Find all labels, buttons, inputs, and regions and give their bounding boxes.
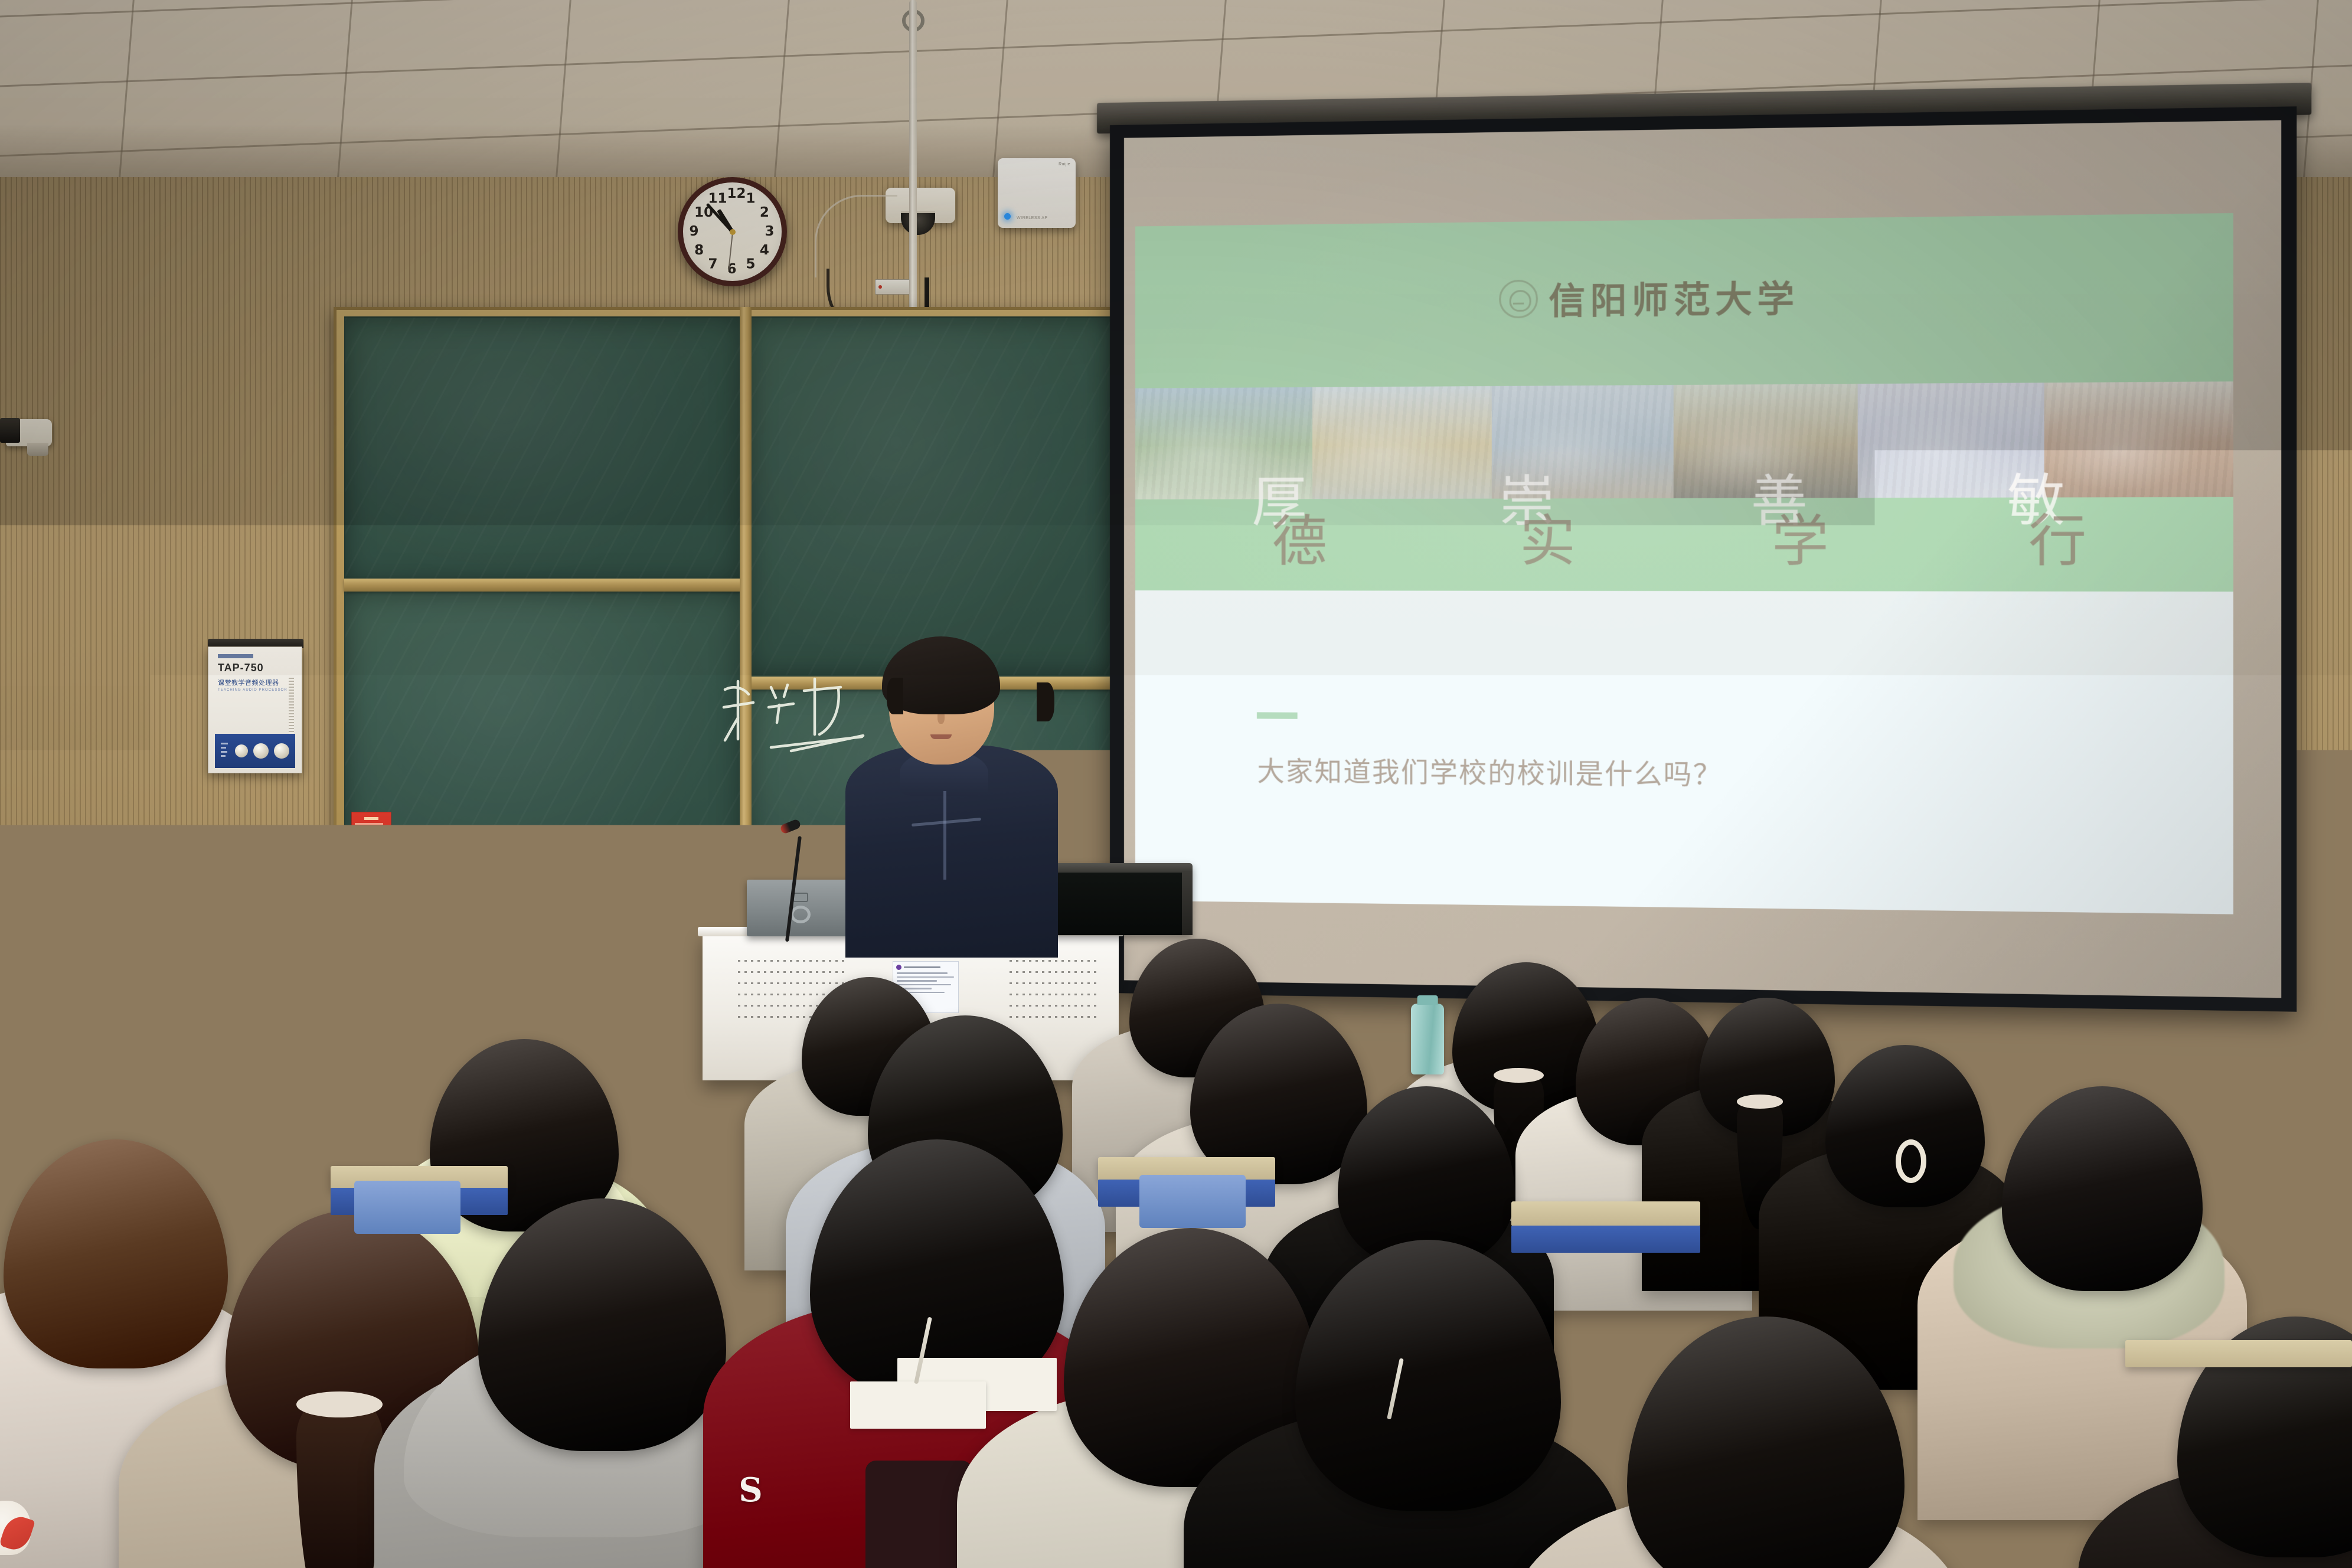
clock-center-pin	[730, 229, 736, 235]
bottle-cap	[1417, 995, 1438, 1005]
gain-knob[interactable]	[274, 743, 289, 759]
student-head	[1627, 1317, 1905, 1568]
chalkboard-panel-top-left	[344, 316, 741, 585]
hoodie-letter-left: S	[739, 1471, 766, 1510]
student-head	[1295, 1240, 1561, 1511]
clock-numeral: 5	[746, 256, 756, 272]
clock-numeral: 9	[690, 224, 699, 239]
chalkboard-panel-top-right	[747, 316, 1120, 677]
hair-tie	[1737, 1095, 1783, 1108]
slide-question-text: 大家知道我们学校的校训是什么吗？	[1257, 750, 1722, 793]
water-bottle	[1411, 1004, 1444, 1074]
wall-clock: 121234567891011	[678, 177, 787, 286]
projection-screen: 信阳师范大学 厚德崇实善学敏行 大家知道我们学校的校训是什么吗？	[1110, 106, 2297, 1012]
clock-numeral: 3	[765, 224, 775, 239]
student-head	[4, 1139, 228, 1368]
motto-char-bottom: 实	[1520, 514, 1576, 570]
student-head	[2002, 1086, 2203, 1291]
clock-numeral: 4	[760, 243, 769, 258]
motto-char-bottom: 德	[1272, 514, 1327, 569]
status-led-icon	[1004, 213, 1011, 220]
control-labels	[221, 743, 230, 759]
audience-student	[1594, 1317, 2066, 1568]
brand-bar	[218, 654, 253, 658]
slide-university-logo: 信阳师范大学	[1499, 270, 1799, 325]
university-name: 信阳师范大学	[1549, 270, 1799, 325]
audio-processor-control-panel[interactable]	[215, 734, 295, 768]
volume-knob-small[interactable]	[235, 744, 248, 757]
water-bottle	[1618, 1234, 1661, 1343]
hair-tie	[177, 1062, 227, 1077]
motto-character-pair: 善学	[1751, 473, 1850, 601]
hair-tie	[1494, 1068, 1544, 1083]
student-head	[1825, 1045, 1985, 1207]
clock-numeral: 7	[708, 256, 718, 272]
university-emblem-icon	[1499, 280, 1538, 319]
motto-character-pair: 敏行	[2007, 473, 2108, 602]
bottle-cap	[1626, 1226, 1653, 1235]
hair-clip	[1896, 1139, 1926, 1183]
motto-char-bottom: 行	[2028, 513, 2086, 569]
classroom-scene: TAP-750 课堂教学音频处理器 TEACHING AUDIO PROCESS…	[0, 0, 2352, 1568]
clock-numeral: 1	[746, 191, 756, 206]
student-desk	[2125, 1340, 2352, 1367]
motto-character-pair: 崇实	[1499, 474, 1596, 600]
chalkboard-panel-bottom-left	[344, 590, 741, 903]
hood-opening	[865, 1461, 972, 1568]
wifi-access-point: Ruijie WIRELESS AP	[998, 158, 1076, 228]
presenter	[845, 643, 1058, 950]
hair-tie	[296, 1391, 383, 1417]
accent-bar-icon	[1257, 712, 1298, 718]
motto-character-pair: 厚德	[1252, 475, 1347, 600]
presentation-slide: 信阳师范大学 厚德崇实善学敏行 大家知道我们学校的校训是什么吗？	[1135, 213, 2233, 914]
chair-back	[354, 1181, 460, 1234]
audio-processor-unit[interactable]: TAP-750 课堂教学音频处理器 TEACHING AUDIO PROCESS…	[208, 646, 302, 773]
clock-numeral: 11	[708, 191, 727, 206]
ponytail	[296, 1397, 383, 1568]
volume-knob-large[interactable]	[253, 743, 269, 759]
school-motto: 厚德崇实善学敏行	[1252, 473, 2108, 654]
audio-processor-model: TAP-750	[218, 662, 302, 674]
ceiling-grid-line	[0, 0, 2352, 23]
clock-numeral: 8	[694, 243, 704, 258]
student-head	[478, 1198, 726, 1451]
wifi-footer-label: WIRELESS AP	[1017, 216, 1048, 220]
motto-char-bottom: 学	[1772, 514, 1829, 569]
notebook-page	[850, 1381, 986, 1429]
desk-front-panel	[1511, 1226, 1700, 1253]
board-notice-poster	[351, 812, 391, 870]
clock-numeral: 12	[727, 186, 746, 201]
chair-back	[1139, 1175, 1246, 1228]
wifi-brand-label: Ruijie	[1059, 162, 1070, 166]
clock-numeral: 2	[760, 205, 769, 220]
label-logo-icon	[896, 965, 901, 970]
wall-camera-icon	[0, 413, 58, 459]
student-desk	[1511, 1201, 1700, 1226]
